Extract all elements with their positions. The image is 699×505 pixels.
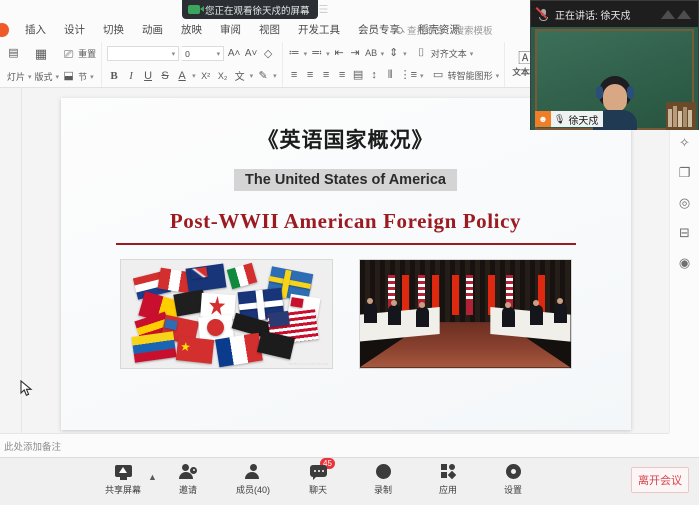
notes-placeholder: 此处添加备注: [4, 439, 61, 453]
speaking-label: 正在讲话: 徐天戍: [555, 7, 631, 22]
invite-label: 邀请: [179, 483, 197, 496]
slide-divider: [116, 243, 576, 245]
text-color-button[interactable]: A: [175, 70, 189, 82]
align-left-icon[interactable]: ≡: [288, 68, 301, 83]
settings-button[interactable]: 设置: [490, 461, 536, 496]
smartart-label[interactable]: 转智能图形: [448, 69, 493, 82]
grow-font-icon[interactable]: A˄: [227, 48, 241, 59]
video-panel[interactable]: 正在讲话: 徐天戍 ☻ 🎙 徐天戍: [530, 0, 699, 130]
decrease-indent-icon[interactable]: ⇤: [333, 46, 346, 61]
record-icon: [376, 461, 391, 481]
slide-page[interactable]: 《英语国家概况》 The United States of America Po…: [61, 98, 631, 430]
app-logo-icon[interactable]: [0, 23, 9, 37]
share-screen-label: 共享屏幕: [105, 483, 141, 496]
mic-on-icon: 🎙: [554, 114, 565, 125]
apps-icon: [441, 461, 456, 481]
tab-animation[interactable]: 动画: [133, 19, 172, 41]
tab-view[interactable]: 视图: [250, 19, 289, 41]
mouse-cursor: [20, 380, 34, 398]
section-caret-icon[interactable]: ▾: [90, 73, 94, 81]
tab-review[interactable]: 审阅: [211, 19, 250, 41]
line-spacing-icon[interactable]: ⇕: [387, 46, 400, 61]
ribbon-group-paragraph: ≔ ▾ ≕ ▾ ⇤ ⇥ AB ▾ ⇕ ▾ ⌷ 对齐文本 ▾: [283, 42, 505, 87]
magic-wand-icon[interactable]: ✧: [679, 136, 690, 149]
screen-share-notification[interactable]: 您正在观看徐天戍的屏幕 ☰: [182, 0, 318, 19]
slide-thumbnail-panel[interactable]: [0, 88, 22, 433]
font-size-value: 0: [185, 49, 190, 59]
strikethrough-button[interactable]: S: [158, 70, 172, 82]
layout-icon[interactable]: ▦: [35, 46, 48, 61]
slide-heading: Post-WWII American Foreign Policy: [61, 209, 631, 234]
leave-meeting-button[interactable]: 离开会议: [631, 467, 689, 493]
numbered-list-caret-icon[interactable]: ▾: [326, 50, 330, 58]
invite-icon: [179, 461, 197, 481]
font-name-caret-icon[interactable]: ▾: [172, 50, 176, 58]
ribbon-group-font: ▾ 0 ▾ A˄ A˅ ◇ B I U S: [102, 42, 283, 87]
participants-icon: [245, 461, 261, 481]
invite-button[interactable]: 邀请: [165, 461, 211, 496]
justify-icon[interactable]: ≡: [336, 68, 349, 83]
highlight-button[interactable]: ✎: [256, 69, 270, 82]
participant-name: 徐天戍: [568, 112, 598, 127]
text-direction-icon[interactable]: AB: [365, 46, 378, 61]
highlight-caret-icon[interactable]: ▾: [273, 72, 277, 80]
line-spacing-caret-icon[interactable]: ▾: [403, 50, 407, 58]
search-placeholder: 查找命令、搜索模板: [407, 23, 493, 37]
font-name-input[interactable]: ▾: [107, 46, 179, 61]
collapse-chevrons-icon[interactable]: [661, 10, 691, 19]
person-avatar-icon: ☻: [535, 111, 551, 127]
reset-label[interactable]: 重置: [78, 47, 96, 60]
apps-label: 应用: [439, 483, 457, 496]
chat-label: 聊天: [309, 483, 327, 496]
participants-label: 成员(40): [236, 483, 270, 496]
image-watermark: weibo.com/ttchinese: [288, 361, 328, 366]
reset-icon[interactable]: ⎚: [62, 46, 75, 61]
chat-button[interactable]: 45 聊天: [295, 461, 341, 496]
world-flags-collage-image[interactable]: weibo.com/ttchinese: [120, 259, 333, 369]
columns-icon[interactable]: ⫴: [384, 68, 397, 83]
bookshelf: [666, 102, 696, 130]
copy-style-icon[interactable]: ❐: [679, 166, 691, 179]
slide-subtitle: The United States of America: [234, 169, 457, 191]
new-slide-caret-icon[interactable]: ▾: [28, 73, 32, 81]
new-slide-label[interactable]: 灯片: [7, 70, 25, 83]
shrink-font-icon[interactable]: A˅: [244, 48, 258, 59]
align-text-label[interactable]: 对齐文本: [431, 47, 467, 60]
align-text-caret-icon[interactable]: ▾: [470, 50, 474, 58]
section-icon[interactable]: ⬓: [62, 69, 75, 84]
list-level-icon[interactable]: ⋮≡: [400, 68, 417, 83]
align-center-icon[interactable]: ≡: [304, 68, 317, 83]
tab-insert[interactable]: 插入: [16, 19, 55, 41]
layout-caret-icon[interactable]: ▾: [56, 73, 60, 81]
increase-indent-icon[interactable]: ⇥: [349, 46, 362, 61]
feedback-icon[interactable]: ⊟: [679, 226, 690, 239]
align-text-icon[interactable]: ⌷: [415, 46, 428, 61]
paragraph-spacing-icon[interactable]: ↕: [368, 68, 381, 83]
font-size-caret-icon[interactable]: ▾: [217, 50, 221, 58]
record-label: 录制: [374, 483, 392, 496]
bullet-list-caret-icon[interactable]: ▾: [304, 50, 308, 58]
us-china-summit-meeting-image[interactable]: [359, 259, 572, 369]
align-right-icon[interactable]: ≡: [320, 68, 333, 83]
superscript-button[interactable]: X²: [199, 71, 213, 81]
bold-button[interactable]: B: [107, 70, 121, 82]
text-direction-caret-icon[interactable]: ▾: [381, 50, 385, 58]
help-icon[interactable]: ◎: [679, 196, 690, 209]
slide-canvas[interactable]: 《英语国家概况》 The United States of America Po…: [22, 88, 669, 433]
italic-button[interactable]: I: [124, 70, 138, 82]
editor-area: 《英语国家概况》 The United States of America Po…: [0, 88, 669, 433]
character-shading-caret-icon[interactable]: ▾: [250, 72, 254, 80]
tab-slideshow[interactable]: 放映: [172, 19, 211, 41]
video-panel-header: 正在讲话: 徐天戍: [531, 1, 698, 27]
smartart-icon[interactable]: ▭: [432, 68, 445, 83]
search-icon: [396, 27, 403, 34]
mic-muted-icon[interactable]: [538, 8, 549, 21]
share-screen-icon: [115, 461, 132, 481]
right-sidebar: ✧ ❐ ◎ ⊟ ◉: [669, 88, 699, 433]
meeting-toolbar: 共享屏幕 邀请: [0, 457, 699, 505]
settings-label: 设置: [504, 483, 522, 496]
underline-button[interactable]: U: [141, 70, 155, 82]
settings-icon: [506, 461, 521, 481]
more-menu-icon[interactable]: ☰: [319, 3, 329, 16]
record-button[interactable]: 录制: [360, 461, 406, 496]
text-color-caret-icon[interactable]: ▾: [192, 72, 196, 80]
ribbon-group-slide: ▤ 灯片 ▾ ▦ 版式 ▾: [2, 42, 102, 87]
slide-subtitle-wrap: The United States of America: [61, 169, 631, 191]
apps-button[interactable]: 应用: [425, 461, 471, 496]
list-level-caret-icon[interactable]: ▾: [420, 72, 424, 80]
wps-presentation-meeting-window: 插入 设计 切换 动画 放映 审阅 视图 开发工具 会员专享 稻壳资源 查找命令…: [0, 0, 699, 505]
distribute-icon[interactable]: ▤: [352, 68, 365, 83]
smartart-caret-icon[interactable]: ▾: [496, 72, 500, 80]
tab-transition[interactable]: 切换: [94, 19, 133, 41]
numbered-list-icon[interactable]: ≕: [310, 46, 323, 61]
search-input[interactable]: 查找命令、搜索模板: [396, 22, 522, 38]
clear-format-icon[interactable]: ◇: [261, 47, 275, 60]
bullet-list-icon[interactable]: ≔: [288, 46, 301, 61]
slide-images-row: weibo.com/ttchinese: [61, 259, 631, 369]
share-screen-button[interactable]: 共享屏幕: [100, 461, 146, 496]
screen-share-notification-text: 您正在观看徐天戍的屏幕: [205, 3, 310, 17]
section-label[interactable]: 节: [78, 70, 87, 83]
meeting-toolbar-items: 共享屏幕 邀请: [100, 461, 536, 496]
tab-developer[interactable]: 开发工具: [289, 19, 349, 41]
tab-design[interactable]: 设计: [55, 19, 94, 41]
participants-button[interactable]: 成员(40): [230, 461, 276, 496]
new-slide-icon[interactable]: ▤: [7, 46, 20, 61]
participant-name-chip: ☻ 🎙 徐天戍: [535, 111, 603, 127]
notes-pane[interactable]: 此处添加备注: [0, 433, 669, 457]
character-shading-button[interactable]: 文: [233, 68, 247, 83]
settings-globe-icon[interactable]: ◉: [679, 256, 690, 269]
font-size-input[interactable]: 0 ▾: [182, 46, 224, 61]
subscript-button[interactable]: X₂: [216, 71, 230, 81]
camera-icon: [188, 5, 200, 14]
video-feed[interactable]: ☻ 🎙 徐天戍: [531, 27, 698, 130]
share-screen-options-caret-icon[interactable]: ▲: [148, 472, 157, 482]
layout-label[interactable]: 版式: [35, 70, 53, 83]
